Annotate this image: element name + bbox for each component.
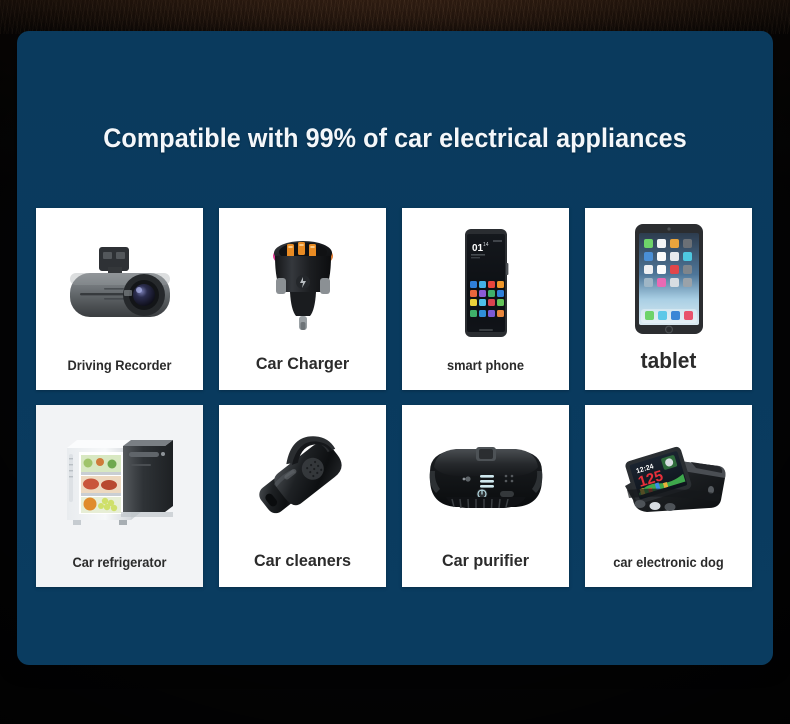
appliance-label: Car purifier (406, 552, 565, 587)
appliance-label: Car Charger (223, 355, 382, 390)
appliance-card-tablet[interactable]: tablet (585, 208, 752, 390)
appliance-label: Car refrigerator (40, 556, 199, 588)
appliance-card-driving-recorder[interactable]: Driving Recorder (36, 208, 203, 390)
appliance-label: Driving Recorder (40, 359, 199, 391)
promo-banner: Compatible with 99% of car electrical ap… (0, 0, 790, 724)
appliance-row: Car refrigerator (36, 405, 754, 587)
appliance-card-car-cleaners[interactable]: Car cleaners (219, 405, 386, 587)
appliance-label: car electronic dog (589, 556, 748, 588)
page-title: Compatible with 99% of car electrical ap… (43, 123, 746, 154)
svg-text:01: 01 (472, 243, 484, 254)
handheld-vacuum-icon (219, 405, 386, 552)
air-purifier-icon (402, 405, 569, 552)
appliance-label: tablet (589, 350, 748, 390)
appliance-card-car-electronic-dog[interactable]: 12:24 125 (585, 405, 752, 587)
svg-text:14: 14 (483, 242, 489, 248)
appliance-card-car-purifier[interactable]: Car purifier (402, 405, 569, 587)
appliance-card-car-refrigerator[interactable]: Car refrigerator (36, 405, 203, 587)
appliance-row: Driving Recorder (36, 208, 754, 390)
radar-detector-icon: 12:24 125 (585, 405, 752, 556)
appliance-card-smart-phone[interactable]: 01 14 (402, 208, 569, 390)
car-charger-icon (219, 208, 386, 355)
mini-fridge-icon (36, 405, 203, 556)
compatibility-panel: Compatible with 99% of car electrical ap… (17, 31, 773, 665)
appliance-grid: Driving Recorder (36, 208, 754, 587)
appliance-label: smart phone (406, 359, 565, 391)
tablet-icon (585, 208, 752, 350)
appliance-card-car-charger[interactable]: Car Charger (219, 208, 386, 390)
appliance-label: Car cleaners (223, 552, 382, 587)
dash-cam-icon (36, 208, 203, 359)
smartphone-icon: 01 14 (402, 208, 569, 359)
